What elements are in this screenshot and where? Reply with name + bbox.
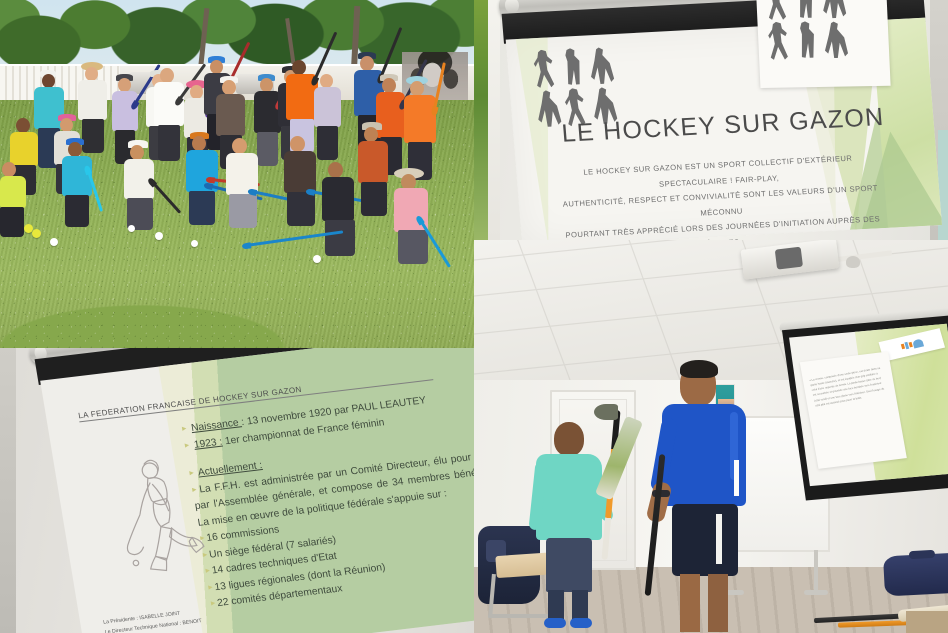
hair [680, 360, 718, 378]
hockey-player-silhouette-icon [765, 22, 793, 60]
ball [313, 255, 321, 263]
projection-screen[interactable]: LE HOCKEY SUR GAZON LE HOCKEY SUR GAZON … [498, 0, 944, 240]
hockey-player-silhouette-icon [764, 0, 792, 20]
panel-slide-presentation: LE HOCKEY SUR GAZON LE HOCKEY SUR GAZON … [474, 0, 948, 240]
leg [572, 590, 588, 620]
slide-surface: « La crosse, composée d'une seule pièce,… [789, 324, 948, 486]
hockey-player-silhouette-icon [587, 46, 616, 85]
hockey-player-silhouette-icon [820, 0, 848, 19]
hockey-silhouettes-group-right [755, 0, 890, 88]
leg [548, 590, 564, 620]
ball [155, 232, 163, 240]
hockey-player-silhouette-icon [559, 48, 588, 87]
ball [32, 229, 41, 238]
slide-surface: LA FEDERATION FRANCAISE DE HOCKEY SUR GA… [40, 348, 474, 633]
slide-body: LE HOCKEY SUR GAZON EST UN SPORT COLLECT… [550, 149, 893, 240]
shoe [570, 618, 592, 628]
window-frame [488, 0, 500, 240]
wall-edge [0, 348, 16, 633]
hockey-player-silhouette-icon [792, 0, 820, 20]
window-outside-greenery [474, 0, 488, 240]
projection-screen[interactable]: « La crosse, composée d'une seule pièce,… [779, 307, 948, 512]
person-coach [656, 364, 770, 632]
panel-slide-federation: LA FEDERATION FRANCAISE DE HOCKEY SUR GA… [0, 348, 474, 633]
hockey-player-line-drawing [82, 449, 225, 589]
hockey-stick-head [594, 404, 618, 420]
hockey-player-silhouette-icon [822, 21, 850, 59]
ball [128, 225, 135, 232]
shoe [544, 618, 566, 628]
shorts-stripe [716, 514, 722, 564]
projection-screen[interactable]: LA FEDERATION FRANCAISE DE HOCKEY SUR GA… [28, 348, 474, 633]
hockey-player-silhouette-icon [794, 21, 822, 59]
panel-group-photo [0, 0, 474, 348]
ball [191, 240, 198, 247]
photo-collage: LE HOCKEY SUR GAZON LE HOCKEY SUR GAZON … [0, 0, 948, 633]
table-edge [906, 611, 948, 633]
whiteboard-foot [804, 590, 828, 595]
whiteboard-leg [814, 550, 818, 594]
panel-classroom-demo: « La crosse, composée d'une seule pièce,… [474, 240, 948, 633]
leg [708, 574, 728, 632]
leg [680, 574, 700, 632]
hockey-silhouettes-group-left [531, 46, 619, 128]
slide-credits: La Présidente : ISABELLE JOINT Le Direct… [102, 603, 227, 633]
hockey-equipment-bag [883, 552, 948, 597]
slide-bullet-list: Naissance : 13 novembre 1920 par PAUL LE… [181, 386, 474, 614]
ball [50, 238, 58, 246]
bullet-lead: 1923 : [193, 436, 223, 450]
bullet-lead: Naissance [190, 417, 242, 434]
slide-paragraph: « La crosse, composée d'une seule pièce,… [809, 365, 889, 408]
slide-surface: LE HOCKEY SUR GAZON LE HOCKEY SUR GAZON … [506, 18, 942, 240]
slide-text-card: « La crosse, composée d'une seule pièce,… [800, 351, 907, 468]
sleeve-stripe [734, 460, 739, 496]
hockey-player-silhouette-icon [531, 49, 560, 88]
camera-dome-icon [846, 256, 860, 268]
